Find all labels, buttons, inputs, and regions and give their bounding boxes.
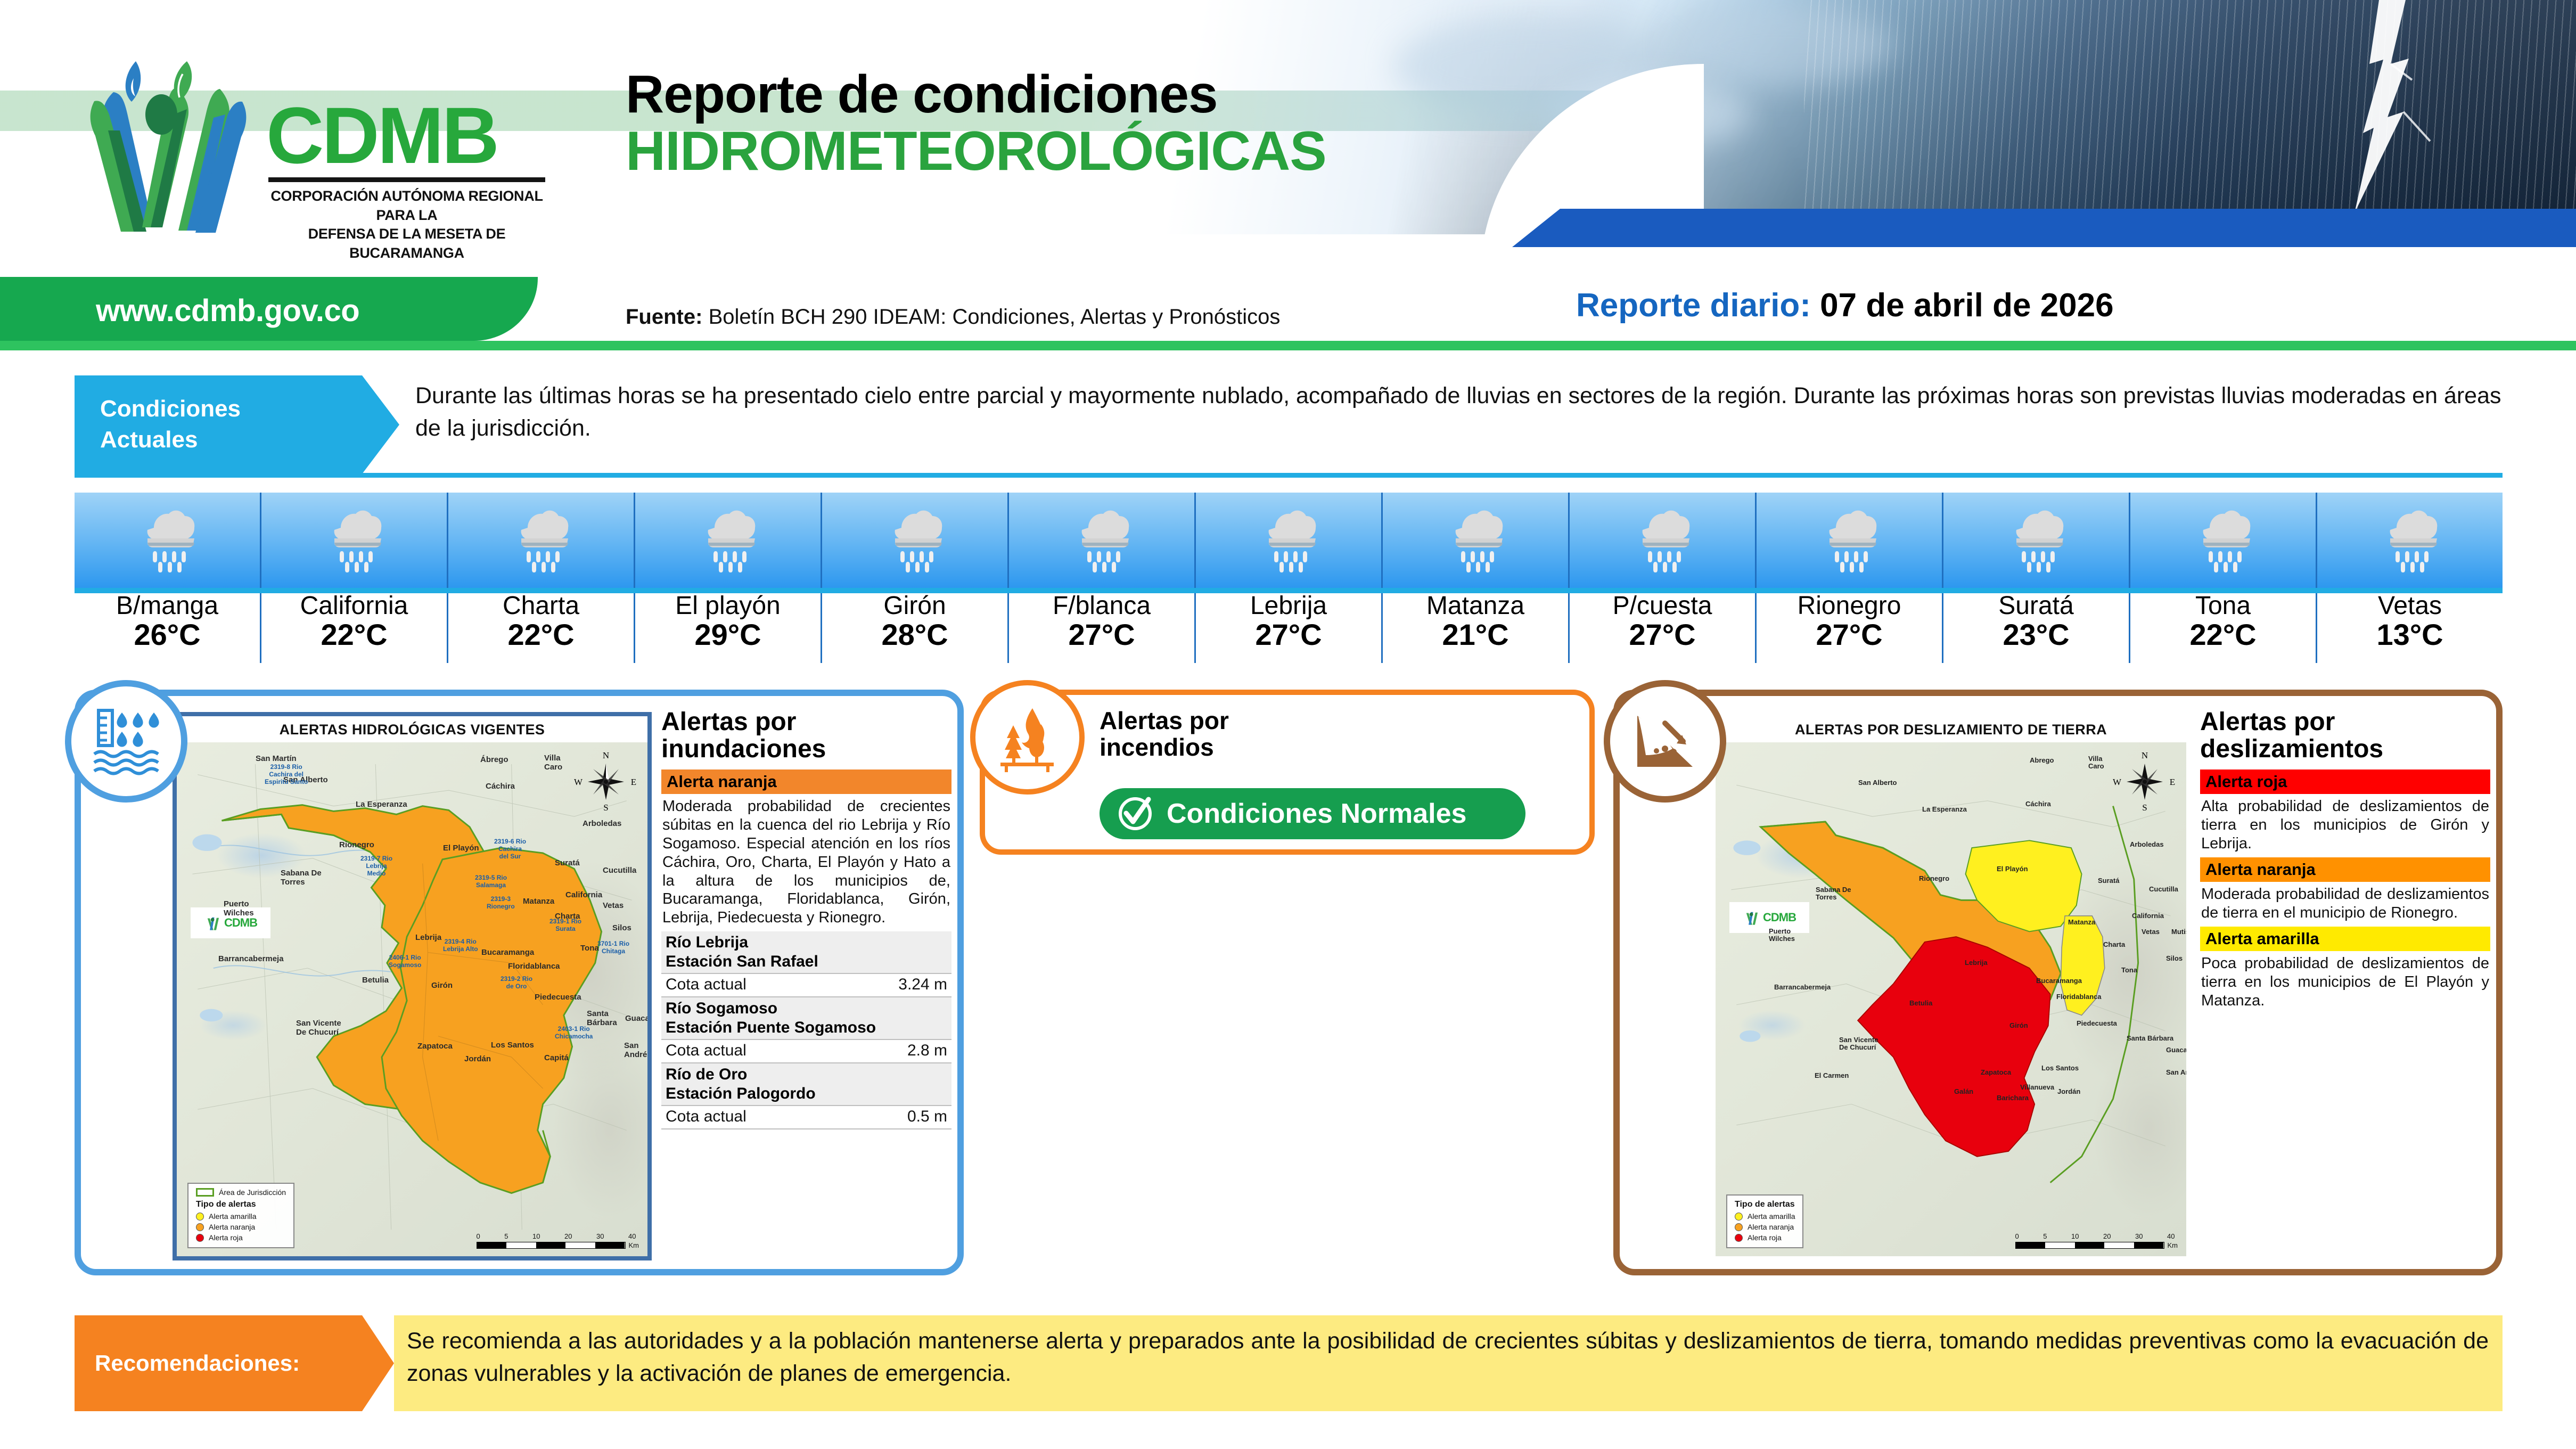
flood-map-canvas: N S W E xyxy=(177,742,647,1257)
title-line-2: HIDROMETEOROLÓGICAS xyxy=(626,122,1326,180)
weather-temp: 26°C xyxy=(75,619,260,651)
weather-cell: California22°C xyxy=(261,493,448,663)
rain-cloud-icon xyxy=(75,493,260,588)
water-level-gauge-icon xyxy=(89,704,163,779)
rain-cloud-icon xyxy=(1383,493,1568,588)
current-conditions-tab-line2: Actuales xyxy=(100,424,399,455)
weather-strip-underline xyxy=(75,588,2503,593)
source-label: Fuente: xyxy=(626,305,702,329)
logo-acronym: CDMB xyxy=(266,99,548,172)
svg-text:S: S xyxy=(603,803,608,813)
recommendations-tab: Recomendaciones: xyxy=(75,1315,394,1411)
landslide-alert-label: Alerta amarilla xyxy=(2200,927,2490,952)
station-river: Río Lebrija xyxy=(666,933,947,952)
report-page: CDMB CORPORACIÓN AUTÓNOMA REGIONAL PARA … xyxy=(0,0,2576,1449)
station-header: Río SogamosoEstación Puente Sogamoso xyxy=(661,997,951,1040)
flood-legend-title: Tipo de alertas xyxy=(196,1200,286,1209)
weather-city: P/cuesta xyxy=(1570,593,1755,619)
weather-cell: Vetas13°C xyxy=(2317,493,2503,663)
flood-map-compass: N S W E xyxy=(574,750,638,814)
fire-badge xyxy=(970,680,1085,795)
weather-city: Vetas xyxy=(2317,593,2503,619)
station-header: Río de OroEstación Palogordo xyxy=(661,1063,951,1106)
svg-text:E: E xyxy=(631,777,636,787)
landslide-legend-title: Tipo de alertas xyxy=(1735,1200,1795,1209)
landslide-icon xyxy=(1628,704,1702,779)
cdmb-logo: CDMB CORPORACIÓN AUTÓNOMA REGIONAL PARA … xyxy=(83,40,551,253)
current-conditions-underline xyxy=(75,473,2503,478)
website-bottom-rule xyxy=(0,341,2576,350)
station-name: Estación Puente Sogamoso xyxy=(666,1018,947,1037)
current-conditions-text: Durante las últimas horas se ha presenta… xyxy=(415,380,2503,445)
weather-temp: 22°C xyxy=(261,619,447,651)
landslide-alert-label: Alerta naranja xyxy=(2200,857,2490,882)
rain-cloud-icon xyxy=(448,493,634,588)
weather-cell: El playón29°C xyxy=(635,493,822,663)
landslide-alert-text: Alta probabilidad de deslizamientos de t… xyxy=(2200,794,2490,857)
daily-report-line: Reporte diario: 07 de abril de 2026 xyxy=(1576,286,2114,324)
landslide-alerts-card: ALERTAS POR DESLIZAMIENTO DE TIERRA xyxy=(1613,690,2503,1275)
current-conditions-row: Condiciones Actuales Durante las últimas… xyxy=(75,375,2503,474)
weather-temp: 27°C xyxy=(1570,619,1755,651)
flood-badge xyxy=(65,680,187,803)
svg-text:E: E xyxy=(2170,777,2175,787)
flood-station-table: Río LebrijaEstación San RafaelCota actua… xyxy=(661,931,951,1129)
flood-legend-jurisdiction: Área de Jurisdicción xyxy=(219,1188,286,1197)
landslide-map-vectors xyxy=(1716,742,2186,1257)
weather-city: F/blanca xyxy=(1009,593,1194,619)
svg-text:N: N xyxy=(2142,750,2148,760)
weather-city: Girón xyxy=(822,593,1007,619)
station-river: Río de Oro xyxy=(666,1065,947,1084)
flood-map-scalebar: 05 1020 3040 Km xyxy=(477,1232,639,1249)
landslide-map-legend: Tipo de alertas Alerta amarilla Alerta n… xyxy=(1726,1194,1803,1248)
flood-panel-title: Alertas porinundaciones xyxy=(661,709,951,763)
flood-scale-unit: Km xyxy=(629,1241,639,1249)
landslide-alert-text: Poca probabilidad de deslizamientos de t… xyxy=(2200,951,2490,1014)
weather-cell: Lebrija27°C xyxy=(1196,493,1383,663)
weather-cell: P/cuesta27°C xyxy=(1570,493,1757,663)
rain-streaks xyxy=(1804,0,2576,234)
jurisdiction-swatch xyxy=(196,1188,214,1197)
weather-temp: 27°C xyxy=(1757,619,1942,651)
website-bar: www.cdmb.gov.co xyxy=(0,277,2576,362)
fire-panel-title: Alertas porincendios xyxy=(1100,708,1229,760)
station-row: Cota actual3.24 m xyxy=(661,974,951,997)
weather-city: Rionegro xyxy=(1757,593,1942,619)
flood-map-title: ALERTAS HIDROLÓGICAS VIGENTES xyxy=(177,716,647,742)
landslide-alert-text: Moderada probabilidad de deslizamientos … xyxy=(2200,882,2490,927)
svg-text:W: W xyxy=(2113,777,2122,787)
rain-cloud-icon xyxy=(261,493,447,588)
flood-alert-panel: Alertas porinundaciones Alerta naranja M… xyxy=(661,709,951,1129)
rain-cloud-icon xyxy=(822,493,1007,588)
weather-city: California xyxy=(261,593,447,619)
rain-cloud-icon xyxy=(1009,493,1194,588)
weather-cell: Suratá23°C xyxy=(1943,493,2130,663)
flood-alert-text: Moderada probabilidad de crecientes súbi… xyxy=(661,794,951,931)
flood-map[interactable]: ALERTAS HIDROLÓGICAS VIGENTES xyxy=(173,712,652,1260)
weather-strip: B/manga26°C California22°C Charta22°C xyxy=(75,493,2503,663)
landslide-map-title: ALERTAS POR DESLIZAMIENTO DE TIERRA xyxy=(1716,716,2186,742)
flood-alert-label: Alerta naranja xyxy=(661,769,951,795)
station-row-value: 3.24 m xyxy=(898,976,947,994)
weather-city: Tona xyxy=(2130,593,2316,619)
weather-temp: 23°C xyxy=(1943,619,2129,651)
rain-cloud-icon xyxy=(635,493,821,588)
daily-report-date: 07 de abril de 2026 xyxy=(1820,287,2113,324)
weather-city: Suratá xyxy=(1943,593,2129,619)
station-row-value: 0.5 m xyxy=(907,1108,947,1126)
rain-cloud-icon xyxy=(1757,493,1942,588)
fire-status-label: Condiciones Normales xyxy=(1167,798,1466,830)
rain-cloud-icon xyxy=(1196,493,1381,588)
source-line: Fuente: Boletín BCH 290 IDEAM: Condicion… xyxy=(626,305,1280,329)
station-river: Río Sogamoso xyxy=(666,999,947,1018)
current-conditions-tab: Condiciones Actuales xyxy=(75,375,399,474)
landslide-map-canvas: N S W E xyxy=(1716,742,2186,1257)
fire-status-badge: Condiciones Normales xyxy=(1100,788,1525,839)
weather-cell: F/blanca27°C xyxy=(1009,493,1196,663)
weather-cell: Tona22°C xyxy=(2130,493,2317,663)
weather-cell: B/manga26°C xyxy=(75,493,261,663)
landslide-map-compass: N S W E xyxy=(2113,750,2177,814)
station-row-value: 2.8 m xyxy=(907,1042,947,1060)
weather-cell: Girón28°C xyxy=(822,493,1009,663)
landslide-map-logo-text: CDMB xyxy=(1763,911,1796,924)
title-line-1: Reporte de condiciones xyxy=(626,67,1326,122)
landslide-legend-item: Alerta roja xyxy=(1748,1233,1782,1242)
logo-subtitle-line1: CORPORACIÓN AUTÓNOMA REGIONAL PARA LA xyxy=(268,187,545,225)
svg-text:N: N xyxy=(603,750,609,760)
lightning-icon xyxy=(2299,0,2438,213)
svg-text:W: W xyxy=(574,777,583,787)
flood-alerts-card: ALERTAS HIDROLÓGICAS VIGENTES xyxy=(75,690,964,1275)
rain-cloud-icon xyxy=(1943,493,2129,588)
weather-cell: Rionegro27°C xyxy=(1757,493,1943,663)
landslide-map-scalebar: 05 1020 3040 Km xyxy=(2015,1232,2178,1249)
flood-legend-item: Alerta roja xyxy=(209,1233,243,1242)
landslide-legend-item: Alerta naranja xyxy=(1748,1223,1794,1231)
weather-city: Lebrija xyxy=(1196,593,1381,619)
weather-city: Matanza xyxy=(1383,593,1568,619)
station-name: Estación San Rafael xyxy=(666,952,947,971)
page-title: Reporte de condiciones HIDROMETEOROLÓGIC… xyxy=(626,67,1326,180)
weather-cell: Matanza21°C xyxy=(1383,493,1570,663)
weather-cell: Charta22°C xyxy=(448,493,635,663)
fire-forest-icon xyxy=(993,703,1062,772)
landslide-alert-list: Alerta rojaAlta probabilidad de deslizam… xyxy=(2200,769,2490,1014)
landslide-alert-panel: Alertas pordeslizamientos Alerta rojaAlt… xyxy=(2200,709,2490,1014)
weather-temp: 27°C xyxy=(1009,619,1194,651)
rain-cloud-icon xyxy=(2130,493,2316,588)
landslide-alert-label: Alerta roja xyxy=(2200,769,2490,795)
logo-subtitle-line2: DEFENSA DE LA MESETA DE BUCARAMANGA xyxy=(268,225,545,263)
station-row-label: Cota actual xyxy=(666,1042,746,1060)
check-circle-icon xyxy=(1115,794,1155,833)
weather-temp: 27°C xyxy=(1196,619,1381,651)
weather-temp: 22°C xyxy=(2130,619,2316,651)
rain-cloud-icon xyxy=(2317,493,2503,588)
daily-report-label: Reporte diario: xyxy=(1576,287,1811,324)
weather-temp: 21°C xyxy=(1383,619,1568,651)
station-row: Cota actual2.8 m xyxy=(661,1040,951,1063)
recommendations-row: Recomendaciones: Se recomienda a las aut… xyxy=(75,1315,2503,1411)
weather-temp: 29°C xyxy=(635,619,821,651)
weather-temp: 22°C xyxy=(448,619,634,651)
landslide-badge xyxy=(1604,680,1726,803)
source-text: Boletín BCH 290 IDEAM: Condiciones, Aler… xyxy=(709,305,1281,329)
landslide-legend-item: Alerta amarilla xyxy=(1748,1212,1795,1221)
landslide-map[interactable]: ALERTAS POR DESLIZAMIENTO DE TIERRA xyxy=(1711,712,2191,1260)
station-row: Cota actual0.5 m xyxy=(661,1106,951,1129)
recommendations-text: Se recomienda a las autoridades y a la p… xyxy=(394,1315,2503,1411)
flood-legend-item: Alerta naranja xyxy=(209,1223,255,1231)
flood-map-legend: Área de Jurisdicción Tipo de alertas Ale… xyxy=(187,1183,294,1248)
landslide-scale-unit: Km xyxy=(2168,1241,2178,1249)
weather-temp: 28°C xyxy=(822,619,1007,651)
alerts-cards-row: ALERTAS HIDROLÓGICAS VIGENTES xyxy=(0,690,2576,1281)
current-conditions-tab-line1: Condiciones xyxy=(100,394,399,424)
page-header: CDMB CORPORACIÓN AUTÓNOMA REGIONAL PARA … xyxy=(0,0,2576,277)
station-row-label: Cota actual xyxy=(666,1108,746,1126)
svg-text:S: S xyxy=(2142,803,2147,813)
flood-map-logo-text: CDMB xyxy=(224,916,257,930)
station-header: Río LebrijaEstación San Rafael xyxy=(661,931,951,974)
flood-legend-item: Alerta amarilla xyxy=(209,1212,256,1221)
weather-city: El playón xyxy=(635,593,821,619)
header-blue-band xyxy=(1512,209,2576,247)
station-name: Estación Palogordo xyxy=(666,1084,947,1103)
weather-temp: 13°C xyxy=(2317,619,2503,651)
rain-cloud-icon xyxy=(1570,493,1755,588)
cdmb-figures-icon xyxy=(83,51,258,242)
fire-alerts-card: Alertas porincendios Condiciones Normale… xyxy=(980,690,1595,855)
landslide-panel-title: Alertas pordeslizamientos xyxy=(2200,709,2490,763)
station-row-label: Cota actual xyxy=(666,976,746,994)
weather-city: B/manga xyxy=(75,593,260,619)
weather-city: Charta xyxy=(448,593,634,619)
website-url[interactable]: www.cdmb.gov.co xyxy=(96,293,359,329)
